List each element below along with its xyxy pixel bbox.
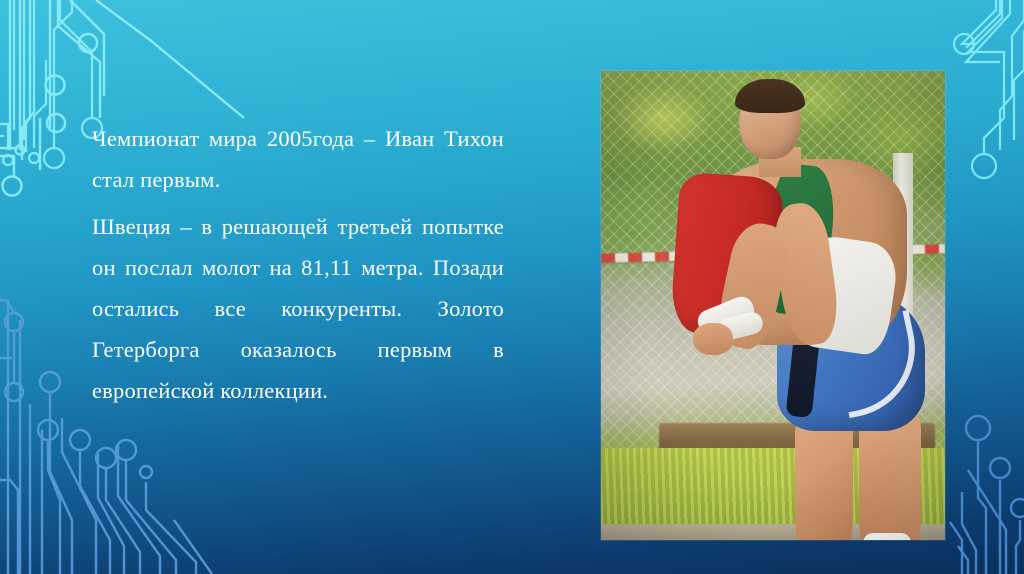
paragraph-2: Швеция – в решающей третьей попытке он п… xyxy=(92,206,504,411)
slide-canvas: Чемпионат мира 2005года – Иван Тихон ста… xyxy=(0,0,1024,574)
paragraph-1: Чемпионат мира 2005года – Иван Тихон ста… xyxy=(92,118,504,200)
athlete-photo xyxy=(601,71,945,540)
slide-body-text: Чемпионат мира 2005года – Иван Тихон ста… xyxy=(92,118,504,411)
photo-vignette xyxy=(601,71,945,540)
